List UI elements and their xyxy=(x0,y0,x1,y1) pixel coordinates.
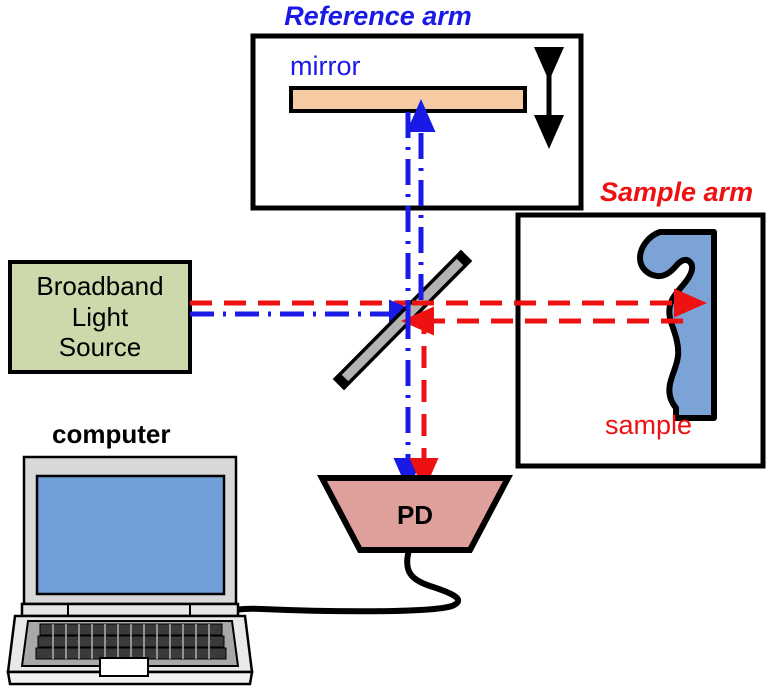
laptop-trackpad xyxy=(100,658,148,676)
diagram-canvas: Reference arm mirror Sample arm sample c… xyxy=(0,0,782,690)
reference-arm-label: Reference arm xyxy=(0,2,782,30)
source-label-line3: Source xyxy=(59,332,141,363)
source-label-line2: Light xyxy=(72,302,128,333)
source-label-line1: Broadband xyxy=(36,271,163,302)
computer-label: computer xyxy=(52,421,170,448)
sample-arm-label: Sample arm xyxy=(600,178,753,206)
mirror-label: mirror xyxy=(290,52,360,80)
signal-cable-main xyxy=(228,550,458,614)
laptop-hinge xyxy=(22,604,238,616)
sample-label: sample xyxy=(605,411,692,439)
reference-mirror xyxy=(291,88,525,111)
photodetector-label: PD xyxy=(330,500,500,531)
broadband-light-source-label: Broadband Light Source xyxy=(10,262,190,372)
laptop-screen xyxy=(37,476,224,594)
